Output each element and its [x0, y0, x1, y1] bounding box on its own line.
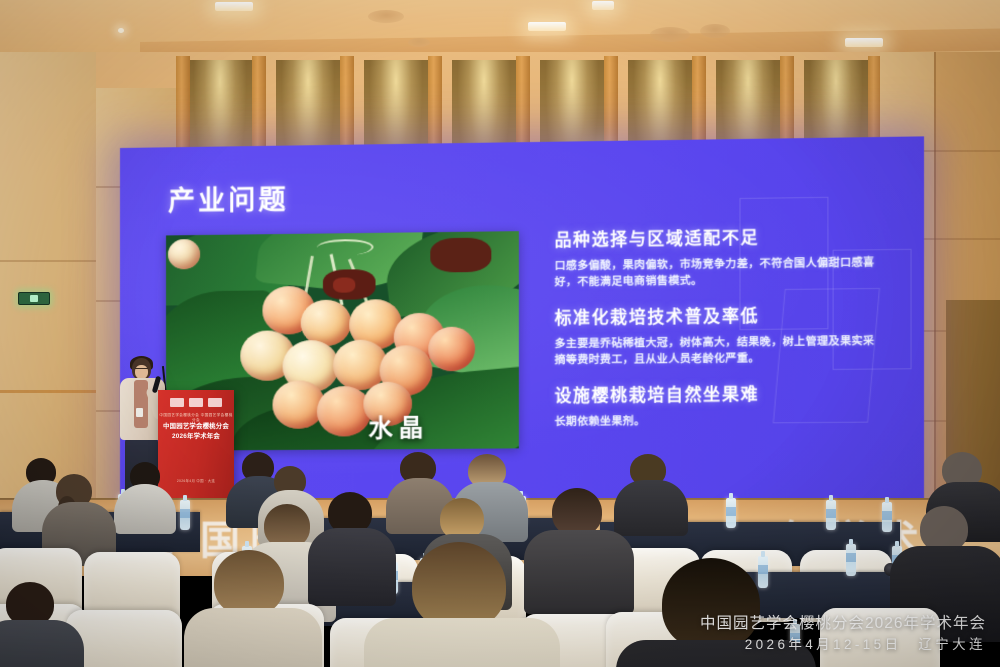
podium-title: 中国园艺学会樱桃分会 2026年学术年会 [158, 422, 234, 442]
exit-sign [18, 292, 50, 305]
cherry-fruit [317, 386, 372, 437]
leaf-shape [430, 238, 491, 273]
ceiling-vent [650, 27, 690, 42]
sponsor-logo-icon [189, 398, 203, 407]
slide-section-heading: 品种选择与区域适配不足 [555, 223, 885, 251]
podium-title-line-2: 2026年学术年会 [158, 432, 234, 442]
slide-section-body: 多主要是乔砧稀植大冠，树体高大，结果晚，树上管理及果实采摘等费时费工，且从业人员… [555, 333, 885, 369]
slide-title: 产业问题 [168, 178, 289, 219]
sponsor-logo-icon [208, 398, 222, 407]
water-bottle [882, 502, 892, 532]
ceiling-light [528, 22, 566, 31]
slide-text-column: 品种选择与区域适配不足 口感多偏酸，果肉偏软，市场竞争力差，不符合国人偏甜口感喜… [555, 223, 885, 445]
conference-photo-scene: 产业问题 [0, 0, 1000, 667]
slide-section-heading: 设施樱桃栽培自然坐果难 [555, 380, 885, 407]
slide-section: 设施樱桃栽培自然坐果难 长期依赖坐果剂。 [555, 380, 885, 430]
slide-section: 品种选择与区域适配不足 口感多偏酸，果肉偏软，市场竞争力差，不符合国人偏甜口感喜… [555, 223, 885, 291]
ceiling-vent [368, 10, 404, 23]
slide-section: 标准化栽培技术普及率低 多主要是乔砧稀植大冠，树体高大，结果晚，树上管理及果实采… [555, 301, 885, 368]
water-bottle [758, 556, 768, 588]
slide-section-body: 长期依赖坐果剂。 [555, 412, 885, 431]
ceiling-vent [700, 24, 730, 38]
glasses-icon [135, 368, 148, 371]
ceiling-vent [408, 38, 430, 47]
ceiling-downlight [118, 28, 124, 33]
ceiling-light [845, 38, 883, 47]
ceiling-light [592, 1, 614, 10]
speaker-name-badge [136, 408, 143, 417]
slide-photo-label: 水晶 [368, 408, 429, 444]
dark-berry-cluster [333, 277, 355, 292]
slide-section-heading: 标准化栽培技术普及率低 [555, 301, 885, 329]
sponsor-logo-icon [170, 398, 184, 407]
water-bottle [726, 498, 736, 528]
slide-section-body: 口感多偏酸，果肉偏软，市场竞争力差，不符合国人偏甜口感喜好，不能满足电商销售模式… [555, 254, 885, 290]
podium-title-line-1: 中国园艺学会樱桃分会 [158, 422, 234, 432]
wall-seam [0, 390, 96, 393]
speaker-inner-top [134, 380, 148, 428]
water-bottle [180, 500, 190, 530]
audience-area [0, 452, 1000, 667]
water-bottle [826, 500, 836, 530]
cherry-fruit [428, 327, 475, 372]
podium-logo-row [164, 397, 228, 408]
wall-seam [0, 260, 96, 262]
chair [820, 608, 940, 667]
ceiling-light [215, 2, 253, 11]
water-bottle [846, 544, 856, 576]
